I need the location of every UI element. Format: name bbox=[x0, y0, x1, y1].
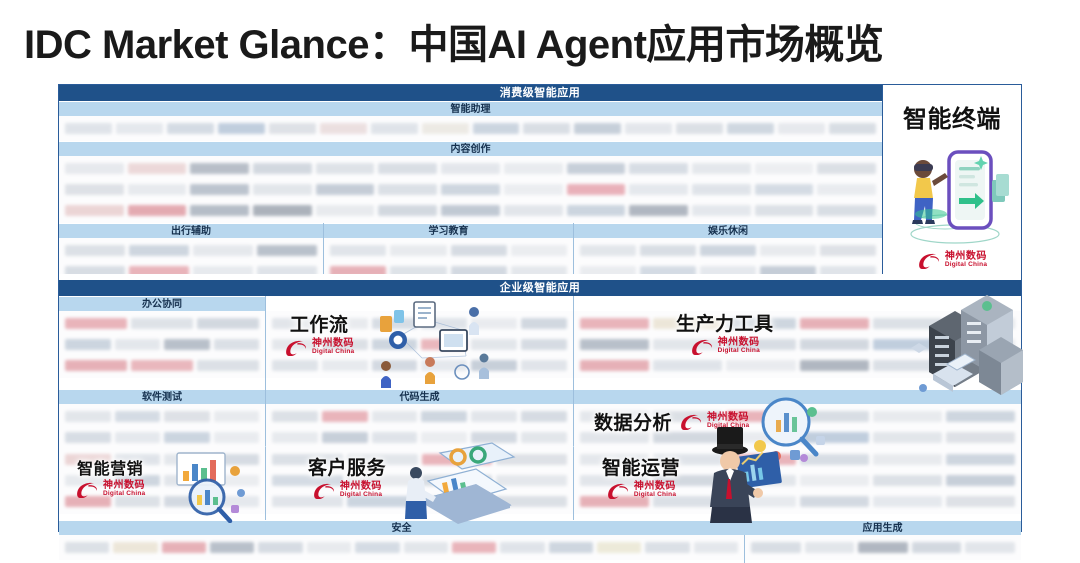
vendor-logo-row bbox=[59, 200, 882, 221]
vendor-logo bbox=[946, 454, 1015, 465]
vendor-logo bbox=[676, 123, 723, 134]
vendor-logo bbox=[496, 454, 567, 465]
vendor-logo bbox=[190, 205, 249, 216]
vendor-logo bbox=[800, 339, 869, 350]
vendor-logo bbox=[727, 123, 774, 134]
vendor-logos-appgen bbox=[745, 535, 1021, 560]
vendor-logo bbox=[193, 245, 253, 256]
vendor-logo bbox=[580, 475, 649, 486]
vendor-logo bbox=[253, 205, 312, 216]
vendor-logo bbox=[322, 360, 368, 371]
vendor-logo bbox=[567, 184, 626, 195]
vendor-logo bbox=[471, 432, 517, 443]
vendor-logo bbox=[128, 205, 187, 216]
vendor-logo bbox=[549, 542, 593, 553]
vendor-logo-row bbox=[574, 334, 1021, 355]
vendor-logo bbox=[521, 360, 567, 371]
vendor-logo-row bbox=[266, 355, 573, 376]
vendor-logo bbox=[129, 245, 189, 256]
category-header-testing: 软件测试 bbox=[59, 389, 265, 404]
vendor-logo bbox=[272, 411, 318, 422]
vendor-logo bbox=[421, 339, 467, 350]
vendor-logo bbox=[817, 184, 876, 195]
vendor-logo-row bbox=[59, 334, 265, 355]
vendor-logo bbox=[115, 496, 161, 507]
vendor-logo-row bbox=[574, 240, 882, 261]
vendor-logo bbox=[504, 184, 563, 195]
vendor-logo bbox=[421, 360, 467, 371]
vendor-logo-row bbox=[59, 240, 323, 261]
vendor-logo bbox=[214, 432, 260, 443]
vendor-logo bbox=[115, 454, 161, 465]
vendor-logo-row bbox=[266, 313, 573, 334]
vendor-logo bbox=[65, 245, 125, 256]
cell-appgen bbox=[744, 535, 1021, 563]
vendor-logo bbox=[257, 245, 317, 256]
vendor-logo bbox=[751, 542, 801, 553]
vendor-logo bbox=[372, 432, 418, 443]
vendor-logo bbox=[653, 432, 722, 443]
vendor-logo bbox=[214, 411, 260, 422]
category-header-workflow-spacer bbox=[266, 296, 573, 311]
vendor-logo bbox=[272, 339, 318, 350]
vendor-logo bbox=[946, 339, 1015, 350]
band-header-enterprise: 企业级智能应用 bbox=[59, 280, 1021, 296]
vendor-logo bbox=[214, 339, 260, 350]
vendor-logo bbox=[523, 123, 570, 134]
vr-person-phone-icon bbox=[893, 136, 1011, 248]
enterprise-bottom-row bbox=[59, 535, 1021, 563]
vendor-logo-row bbox=[574, 491, 1021, 512]
vendor-logo bbox=[272, 475, 343, 486]
market-glance-matrix: 消费级智能应用 智能助理 内容创作 出行辅助 学习教育 娱乐休闲 智能终端 bbox=[58, 84, 1022, 532]
vendor-logo bbox=[829, 123, 876, 134]
vendor-logo bbox=[422, 454, 493, 465]
vendor-logo-row bbox=[59, 537, 744, 558]
vendor-logo bbox=[726, 475, 795, 486]
vendor-logo bbox=[272, 432, 318, 443]
vendor-logo bbox=[258, 542, 302, 553]
vendor-logo bbox=[873, 454, 942, 465]
vendor-logo bbox=[653, 339, 722, 350]
vendor-logo bbox=[726, 318, 795, 329]
vendor-logo bbox=[629, 184, 688, 195]
cell-codegen-header: 代码生成 bbox=[265, 389, 573, 404]
vendor-logo-row bbox=[574, 355, 1021, 376]
digital-china-logo: 神州数码 Digital China bbox=[917, 252, 987, 269]
vendor-logo bbox=[580, 432, 649, 443]
vendor-logo bbox=[307, 542, 351, 553]
vendor-logos-assistant bbox=[59, 116, 882, 141]
vendor-logo bbox=[441, 184, 500, 195]
vendor-logo bbox=[320, 123, 367, 134]
vendor-logo bbox=[113, 542, 157, 553]
vendor-logo bbox=[322, 318, 368, 329]
category-header-travel: 出行辅助 bbox=[59, 223, 323, 238]
vendor-logo bbox=[65, 432, 111, 443]
vendor-logo-row bbox=[59, 118, 882, 139]
vendor-logo bbox=[390, 245, 446, 256]
vendor-logo bbox=[65, 339, 111, 350]
vendor-logo bbox=[521, 432, 567, 443]
vendor-logo bbox=[441, 205, 500, 216]
vendor-logo bbox=[700, 245, 756, 256]
vendor-logo bbox=[726, 360, 795, 371]
vendor-logo bbox=[65, 163, 124, 174]
vendor-logo bbox=[471, 318, 517, 329]
vendor-logo bbox=[115, 432, 161, 443]
vendor-logo bbox=[692, 205, 751, 216]
vendor-logo bbox=[692, 184, 751, 195]
category-header-content: 内容创作 bbox=[59, 141, 882, 156]
vendor-logo bbox=[253, 184, 312, 195]
vendor-logo bbox=[778, 123, 825, 134]
vendor-logo bbox=[322, 339, 368, 350]
cell-dataanalysis-header bbox=[573, 389, 1021, 404]
vendor-logo bbox=[692, 163, 751, 174]
vendor-logo bbox=[65, 360, 127, 371]
vendor-logo bbox=[473, 123, 520, 134]
vendor-logo bbox=[640, 245, 696, 256]
category-header-appgen: 应用生成 bbox=[744, 520, 1021, 535]
vendor-logo bbox=[946, 475, 1015, 486]
cell-workflow: 工作流 神州数码 Digital China bbox=[265, 296, 573, 389]
cell-appgen-header: 应用生成 bbox=[744, 520, 1021, 535]
vendor-logo-row bbox=[574, 313, 1021, 334]
vendor-logo bbox=[496, 475, 567, 486]
vendor-logo bbox=[800, 454, 869, 465]
vendor-logo bbox=[946, 432, 1015, 443]
vendor-logo bbox=[272, 454, 343, 465]
category-header-assistant: 智能助理 bbox=[59, 101, 882, 116]
vendor-logo bbox=[580, 360, 649, 371]
vendor-logo bbox=[190, 163, 249, 174]
vendor-logo bbox=[164, 496, 210, 507]
vendor-logo bbox=[272, 496, 343, 507]
vendor-logo-row bbox=[574, 406, 1021, 427]
vendor-logo bbox=[800, 475, 869, 486]
vendor-logos-workflow bbox=[266, 311, 573, 378]
vendor-logo bbox=[272, 360, 318, 371]
vendor-logo bbox=[500, 542, 544, 553]
enterprise-middle-row: 数据分析 神州数码 Digital China bbox=[59, 404, 1021, 446]
vendor-logo bbox=[496, 496, 567, 507]
vendor-logo bbox=[65, 411, 111, 422]
vendor-logo bbox=[580, 245, 636, 256]
cell-customer-service: 客户服务 神州数码 Digital China bbox=[265, 447, 573, 520]
vendor-logos-dataanalysis bbox=[574, 404, 1021, 450]
cell-security bbox=[59, 535, 744, 563]
vendor-logo bbox=[65, 496, 111, 507]
vendor-logo bbox=[858, 542, 908, 553]
vendor-logo bbox=[116, 123, 163, 134]
vendor-logo bbox=[272, 318, 318, 329]
enterprise-upper-row: 办公协同 工作流 神州数码 Digital China bbox=[59, 296, 1021, 389]
vendor-logo bbox=[755, 205, 814, 216]
vendor-logos-productivity bbox=[574, 311, 1021, 378]
vendor-logo bbox=[726, 411, 795, 422]
overlay-label-terminal: 智能终端 bbox=[903, 99, 1001, 134]
vendor-logo bbox=[471, 411, 517, 422]
vendor-logos-marketing bbox=[59, 447, 265, 514]
vendor-logo bbox=[347, 475, 418, 486]
vendor-logo bbox=[653, 360, 722, 371]
page-title: IDC Market Glance：中国AI Agent应用市场概览 bbox=[24, 12, 1064, 70]
vendor-logo bbox=[597, 542, 641, 553]
vendor-logos-testing bbox=[59, 404, 265, 450]
vendor-logos-security bbox=[59, 535, 744, 560]
vendor-logo bbox=[873, 432, 942, 443]
vendor-logo bbox=[629, 163, 688, 174]
vendor-logo bbox=[322, 411, 368, 422]
cell-marketing: 智能营销 神州数码 Digital China bbox=[59, 447, 265, 520]
vendor-logo bbox=[965, 542, 1015, 553]
vendor-logo bbox=[65, 123, 112, 134]
vendor-logo bbox=[521, 411, 567, 422]
vendor-logo bbox=[371, 123, 418, 134]
vendor-logo bbox=[378, 184, 437, 195]
vendor-logo bbox=[214, 496, 260, 507]
category-header-codegen: 代码生成 bbox=[266, 389, 573, 404]
vendor-logo bbox=[726, 339, 795, 350]
band-header-consumer: 消费级智能应用 bbox=[59, 85, 1021, 101]
category-header-productivity-spacer bbox=[574, 296, 1021, 311]
vendor-logo bbox=[322, 432, 368, 443]
vendor-logo bbox=[653, 454, 722, 465]
vendor-logo bbox=[167, 123, 214, 134]
vendor-logo-row bbox=[266, 406, 573, 427]
vendor-logo bbox=[521, 318, 567, 329]
vendor-logo bbox=[404, 542, 448, 553]
vendor-logo bbox=[567, 205, 626, 216]
vendor-logo bbox=[580, 339, 649, 350]
vendor-logo bbox=[421, 318, 467, 329]
vendor-logo bbox=[131, 318, 193, 329]
vendor-logo bbox=[800, 432, 869, 443]
vendor-logo bbox=[645, 542, 689, 553]
vendor-logo bbox=[805, 542, 855, 553]
enterprise-lower-row: 智能营销 神州数码 Digital China bbox=[59, 446, 1021, 520]
vendor-logo bbox=[451, 245, 507, 256]
vendor-logo bbox=[190, 184, 249, 195]
vendor-logo bbox=[65, 205, 124, 216]
vendor-logo bbox=[580, 411, 649, 422]
vendor-logos-operations bbox=[574, 447, 1021, 514]
cell-office: 办公协同 bbox=[59, 296, 265, 389]
category-header-security: 安全 bbox=[59, 520, 744, 535]
category-header-office: 办公协同 bbox=[59, 296, 265, 311]
vendor-logo bbox=[946, 411, 1015, 422]
cell-codegen bbox=[265, 404, 573, 446]
enterprise-bottom-header-row: 安全 应用生成 bbox=[59, 520, 1021, 535]
vendor-logo bbox=[253, 163, 312, 174]
vendor-logo-row bbox=[574, 427, 1021, 448]
vendor-logo bbox=[164, 411, 210, 422]
vendor-logo bbox=[800, 496, 869, 507]
vendor-logo bbox=[422, 496, 493, 507]
vendor-logo bbox=[218, 123, 265, 134]
vendor-logo bbox=[131, 360, 193, 371]
enterprise-middle-header-row: 软件测试 代码生成 bbox=[59, 389, 1021, 404]
vendor-logo-row bbox=[59, 179, 882, 200]
vendor-logo bbox=[441, 163, 500, 174]
vendor-logo-row bbox=[266, 449, 573, 470]
vendor-logo bbox=[316, 184, 375, 195]
cell-testing bbox=[59, 404, 265, 446]
vendor-logo bbox=[580, 454, 649, 465]
vendor-logo bbox=[800, 411, 869, 422]
vendor-logo bbox=[422, 475, 493, 486]
vendor-logo bbox=[653, 411, 722, 422]
vendor-logo bbox=[625, 123, 672, 134]
smart-terminal-panel: 智能终端 bbox=[882, 85, 1021, 274]
vendor-logo bbox=[422, 123, 469, 134]
vendor-logo bbox=[820, 245, 876, 256]
vendor-logo bbox=[65, 475, 111, 486]
vendor-logo bbox=[316, 205, 375, 216]
vendor-logo bbox=[726, 496, 795, 507]
vendor-logo bbox=[873, 496, 942, 507]
vendor-logo bbox=[755, 184, 814, 195]
vendor-logo bbox=[817, 163, 876, 174]
vendor-logo bbox=[372, 339, 418, 350]
vendor-logo bbox=[800, 318, 869, 329]
vendor-logo bbox=[128, 184, 187, 195]
vendor-logo bbox=[760, 245, 816, 256]
vendor-logo bbox=[471, 339, 517, 350]
vendor-logo bbox=[421, 432, 467, 443]
vendor-logo-row bbox=[574, 449, 1021, 470]
vendor-logo bbox=[372, 411, 418, 422]
vendor-logo-row bbox=[745, 537, 1021, 558]
vendor-logo bbox=[504, 205, 563, 216]
vendor-logo bbox=[421, 411, 467, 422]
vendor-logo bbox=[912, 542, 962, 553]
vendor-logo bbox=[452, 542, 496, 553]
vendor-logo bbox=[347, 454, 418, 465]
vendor-logo bbox=[726, 432, 795, 443]
vendor-logo bbox=[115, 411, 161, 422]
vendor-logo bbox=[214, 454, 260, 465]
vendor-logo bbox=[817, 205, 876, 216]
vendor-logo bbox=[873, 475, 942, 486]
vendor-logo bbox=[164, 339, 210, 350]
vendor-logo-row bbox=[59, 406, 265, 427]
vendor-logo bbox=[653, 318, 722, 329]
vendor-logo-row bbox=[574, 470, 1021, 491]
vendor-logo-row bbox=[324, 240, 573, 261]
vendor-logo-row bbox=[266, 491, 573, 512]
vendor-logo bbox=[269, 123, 316, 134]
vendor-logo bbox=[65, 542, 109, 553]
vendor-logo bbox=[162, 542, 206, 553]
vendor-logo bbox=[65, 454, 111, 465]
vendor-logo bbox=[800, 360, 869, 371]
vendor-logos-office bbox=[59, 311, 265, 378]
vendor-logo bbox=[580, 496, 649, 507]
vendor-logo bbox=[946, 318, 1015, 329]
vendor-logo bbox=[65, 184, 124, 195]
vendor-logo bbox=[197, 360, 259, 371]
vendor-logo bbox=[330, 245, 386, 256]
vendor-logo bbox=[694, 542, 738, 553]
vendor-logo bbox=[755, 163, 814, 174]
vendor-logo bbox=[372, 360, 418, 371]
vendor-logo bbox=[946, 496, 1015, 507]
vendor-logo-row bbox=[59, 355, 265, 376]
vendor-logo-row bbox=[266, 427, 573, 448]
vendor-logo bbox=[115, 339, 161, 350]
vendor-logo bbox=[378, 205, 437, 216]
vendor-logo bbox=[128, 163, 187, 174]
vendor-logo bbox=[210, 542, 254, 553]
vendor-logo bbox=[873, 360, 942, 371]
vendor-logo bbox=[726, 454, 795, 465]
vendor-logos-content bbox=[59, 156, 882, 223]
cell-productivity: 生产力工具 神州数码 Digital China bbox=[573, 296, 1021, 389]
brand-name-en: Digital China bbox=[945, 262, 987, 269]
vendor-logo-row bbox=[266, 470, 573, 491]
cell-operations: 智能运营 神州数码 Digital China bbox=[573, 447, 1021, 520]
vendor-logo-row bbox=[59, 427, 265, 448]
vendor-logo bbox=[471, 360, 517, 371]
vendor-logo bbox=[873, 411, 942, 422]
vendor-logo bbox=[378, 163, 437, 174]
vendor-logos-codegen bbox=[266, 404, 573, 450]
vendor-logo bbox=[504, 163, 563, 174]
vendor-logo bbox=[164, 432, 210, 443]
vendor-logo bbox=[65, 318, 127, 329]
cell-security-header: 安全 bbox=[59, 520, 744, 535]
vendor-logo bbox=[873, 339, 942, 350]
vendor-logo-row bbox=[59, 449, 265, 470]
vendor-logo bbox=[214, 475, 260, 486]
vendor-logo-row bbox=[266, 334, 573, 355]
vendor-logos-service bbox=[266, 447, 573, 514]
vendor-logo bbox=[873, 318, 942, 329]
vendor-logo bbox=[197, 318, 259, 329]
vendor-logo bbox=[580, 318, 649, 329]
vendor-logo bbox=[115, 475, 161, 486]
vendor-logo bbox=[946, 360, 1015, 371]
vendor-logo-row bbox=[59, 313, 265, 334]
vendor-logo bbox=[521, 339, 567, 350]
cell-testing-header: 软件测试 bbox=[59, 389, 265, 404]
vendor-logo bbox=[629, 205, 688, 216]
cell-dataanalysis: 数据分析 神州数码 Digital China bbox=[573, 404, 1021, 446]
vendor-logo bbox=[347, 496, 418, 507]
vendor-logo bbox=[653, 475, 722, 486]
category-header-education: 学习教育 bbox=[324, 223, 573, 238]
vendor-logo bbox=[372, 318, 418, 329]
consumer-grid: 智能助理 内容创作 出行辅助 学习教育 娱乐休闲 bbox=[59, 101, 882, 274]
swoosh-logo-icon bbox=[917, 252, 941, 269]
vendor-logo-row bbox=[59, 470, 265, 491]
vendor-logo bbox=[355, 542, 399, 553]
vendor-logo bbox=[164, 475, 210, 486]
vendor-logo bbox=[316, 163, 375, 174]
vendor-logo bbox=[164, 454, 210, 465]
vendor-logo-row bbox=[59, 158, 882, 179]
vendor-logo bbox=[574, 123, 621, 134]
enterprise-section: 企业级智能应用 办公协同 工作流 神州数 bbox=[59, 274, 1021, 531]
vendor-logo bbox=[511, 245, 567, 256]
category-header-entertainment: 娱乐休闲 bbox=[574, 223, 882, 238]
vendor-logo bbox=[567, 163, 626, 174]
vendor-logo bbox=[653, 496, 722, 507]
category-header-dataanalysis-spacer bbox=[574, 389, 1021, 404]
vendor-logo-row bbox=[59, 491, 265, 512]
